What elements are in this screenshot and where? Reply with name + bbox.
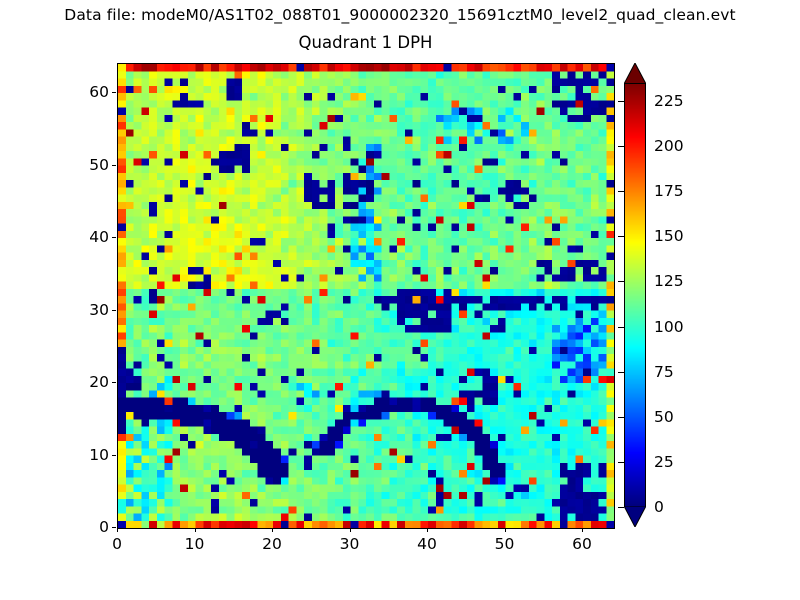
x-tick-mark [350, 528, 351, 532]
y-tick-mark [112, 165, 116, 166]
x-tick-label: 40 [417, 535, 437, 553]
x-tick-label: 50 [495, 535, 515, 553]
colorbar-tick-mark [618, 191, 624, 192]
x-tick-mark [427, 528, 428, 532]
colorbar-tick-mark [618, 327, 624, 328]
y-tick-label: 60 [69, 83, 109, 101]
colorbar-tick-mark [618, 101, 624, 102]
colorbar-tick-mark [618, 372, 624, 373]
colorbar-tick-label: 0 [654, 498, 664, 516]
x-tick-mark [505, 528, 506, 532]
y-tick-label: 40 [69, 228, 109, 246]
y-tick-mark [112, 310, 116, 311]
colorbar-extend-min-arrow [624, 506, 646, 527]
x-tick-mark [272, 528, 273, 532]
colorbar-tick-label: 75 [654, 363, 674, 381]
x-tick-label: 10 [185, 535, 205, 553]
colorbar-tick-mark [618, 417, 624, 418]
x-tick-label: 30 [340, 535, 360, 553]
colorbar-tick-mark [618, 281, 624, 282]
colorbar-tick-label: 50 [654, 408, 674, 426]
y-tick-mark [112, 237, 116, 238]
x-tick-mark [117, 528, 118, 532]
colorbar-tick-label: 25 [654, 453, 674, 471]
x-tick-label: 60 [572, 535, 592, 553]
y-tick-mark [112, 382, 116, 383]
colorbar-tick-mark [618, 146, 624, 147]
colorbar-tick-label: 200 [654, 137, 684, 155]
data-file-suptitle: Data file: modeM0/AS1T02_088T01_90000023… [0, 6, 800, 24]
heatmap-axes [117, 63, 615, 529]
figure-canvas: Data file: modeM0/AS1T02_088T01_90000023… [0, 0, 800, 600]
page-title: Quadrant 1 DPH [117, 33, 614, 52]
colorbar: 0255075100125150175200225 [624, 63, 646, 527]
colorbar-tick-label: 175 [654, 182, 684, 200]
y-tick-label: 10 [69, 446, 109, 464]
colorbar-tick-label: 225 [654, 92, 684, 110]
colorbar-tick-label: 100 [654, 318, 684, 336]
y-tick-mark [112, 527, 116, 528]
colorbar-gradient [624, 83, 646, 507]
x-tick-mark [582, 528, 583, 532]
colorbar-tick-mark [618, 507, 624, 508]
colorbar-tick-label: 125 [654, 272, 684, 290]
y-tick-mark [112, 455, 116, 456]
y-tick-label: 0 [69, 518, 109, 536]
y-tick-label: 20 [69, 373, 109, 391]
y-tick-label: 50 [69, 156, 109, 174]
colorbar-extend-max-arrow [624, 63, 646, 84]
colorbar-tick-mark [618, 462, 624, 463]
colorbar-tick-label: 150 [654, 227, 684, 245]
detector-heatmap-image [118, 64, 614, 528]
x-tick-label: 20 [262, 535, 282, 553]
colorbar-tick-mark [618, 236, 624, 237]
x-tick-label: 0 [112, 535, 122, 553]
x-tick-mark [195, 528, 196, 532]
y-tick-mark [112, 92, 116, 93]
y-tick-label: 30 [69, 301, 109, 319]
